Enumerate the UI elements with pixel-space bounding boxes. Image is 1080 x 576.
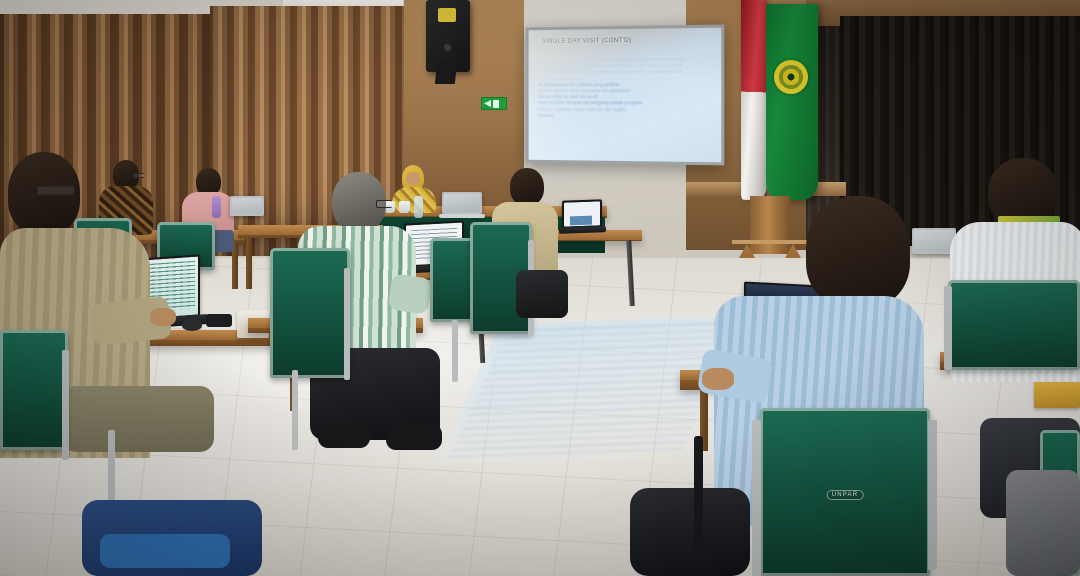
laptop-lid — [562, 199, 602, 228]
shoe — [318, 424, 370, 448]
hand — [150, 308, 176, 326]
table-leg — [246, 237, 252, 289]
slide-body: proses menyelesaikan terkait pelaksanaan… — [538, 56, 713, 119]
laptop-screen-document — [564, 201, 600, 226]
laptop-screen — [232, 198, 262, 214]
chair-back — [270, 248, 350, 378]
laptop-lid — [442, 192, 482, 214]
shoe — [386, 424, 442, 450]
chair-frame — [292, 370, 298, 450]
chair-right[interactable] — [948, 280, 1080, 370]
chair-back — [948, 280, 1080, 370]
chair-frame — [62, 350, 69, 460]
chair-front-left[interactable] — [0, 330, 68, 450]
running-man-icon — [493, 100, 499, 108]
backpack-pocket — [100, 534, 230, 568]
chair-frame — [344, 268, 350, 380]
chair-logo: UNPAR — [827, 490, 864, 500]
chair-front-right[interactable]: UNPAR — [760, 408, 930, 576]
phone[interactable] — [206, 314, 232, 327]
chair-frame — [928, 420, 937, 570]
laptop-screen — [444, 194, 480, 212]
far-right-person-legs — [1006, 470, 1080, 576]
backpack-blue — [82, 500, 262, 576]
chair-center[interactable] — [270, 248, 350, 378]
laptop-base — [439, 214, 485, 218]
chair-frame — [944, 286, 952, 370]
laptop-lid — [230, 196, 264, 216]
head — [806, 196, 910, 308]
chair-back — [0, 330, 68, 450]
glasses-icon — [36, 185, 74, 196]
institution-flag — [766, 4, 818, 200]
hand — [702, 368, 734, 390]
meeting-room-photo: SINGLE DAY VISIT (CONT'D) proses menyele… — [0, 0, 1080, 576]
chair-frame — [752, 420, 761, 576]
head — [510, 168, 544, 206]
speaker-driver — [444, 44, 451, 51]
mouse[interactable] — [182, 318, 202, 331]
bag-handle — [694, 436, 703, 556]
bag-under-chair — [516, 270, 568, 318]
projected-slide: SINGLE DAY VISIT (CONT'D) proses menyele… — [529, 28, 722, 163]
slide-title: SINGLE DAY VISIT (CONT'D) — [542, 37, 631, 45]
arm — [388, 273, 433, 314]
exit-sign-icon — [481, 97, 507, 110]
glasses-icon — [376, 200, 392, 208]
chair-back: UNPAR — [760, 408, 930, 576]
speaker-mount — [435, 62, 457, 84]
chair-frame — [452, 320, 458, 382]
khaki-trousers — [62, 386, 214, 452]
bag-black — [630, 488, 750, 576]
projection-screen: SINGLE DAY VISIT (CONT'D) proses menyele… — [526, 25, 725, 166]
laptop-screen — [914, 230, 954, 252]
purple-bottle — [212, 196, 221, 218]
exit-arrow-icon — [484, 100, 491, 107]
slide-agenda-line: Selesai — [538, 113, 713, 120]
indonesia-flag — [741, 0, 767, 200]
institution-emblem-icon — [774, 60, 808, 94]
speaker-label — [438, 8, 456, 22]
snack-box — [1034, 382, 1080, 408]
